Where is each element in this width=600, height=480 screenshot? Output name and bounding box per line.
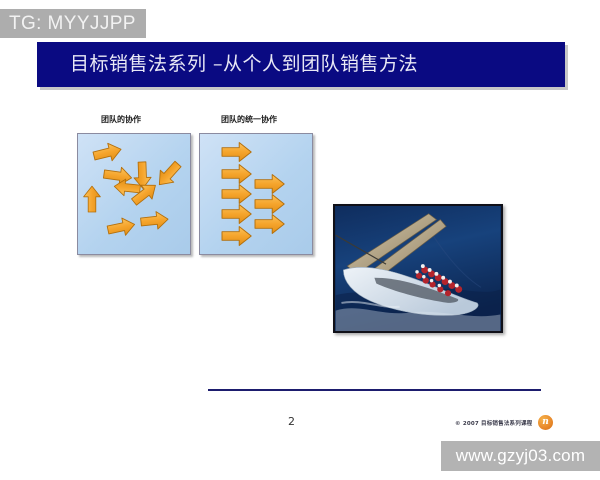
tg-watermark-tag: TG: MYYJJPP (0, 9, 146, 38)
arrow-group (222, 143, 284, 246)
diagram-box-scattered-arrows (77, 133, 191, 255)
diagram-caption-left: 团队的协作 (101, 114, 141, 125)
scattered-arrows-graphic (78, 134, 190, 254)
slide-title: 目标销售法系列 –从个人到团队销售方法 (70, 51, 418, 78)
footer-divider (208, 389, 541, 391)
aligned-arrows-graphic (200, 134, 312, 254)
slide-canvas: 目标销售法系列 –从个人到团队销售方法 团队的协作 团队的统一协作 (0, 0, 600, 480)
slide-title-bar: 目标销售法系列 –从个人到团队销售方法 (37, 42, 565, 87)
diagram-caption-right: 团队的统一协作 (221, 114, 277, 125)
diagram-box-aligned-arrows (199, 133, 313, 255)
sailing-yacht-photo (333, 204, 503, 333)
yacht-illustration (335, 206, 501, 331)
arrow-group (84, 141, 185, 239)
site-watermark: www.gzyj03.com (441, 441, 600, 471)
brand-logo-icon: n (538, 415, 553, 430)
copyright-text: © 2007 目标销售法系列课程 (455, 419, 532, 427)
page-number: 2 (288, 415, 295, 428)
